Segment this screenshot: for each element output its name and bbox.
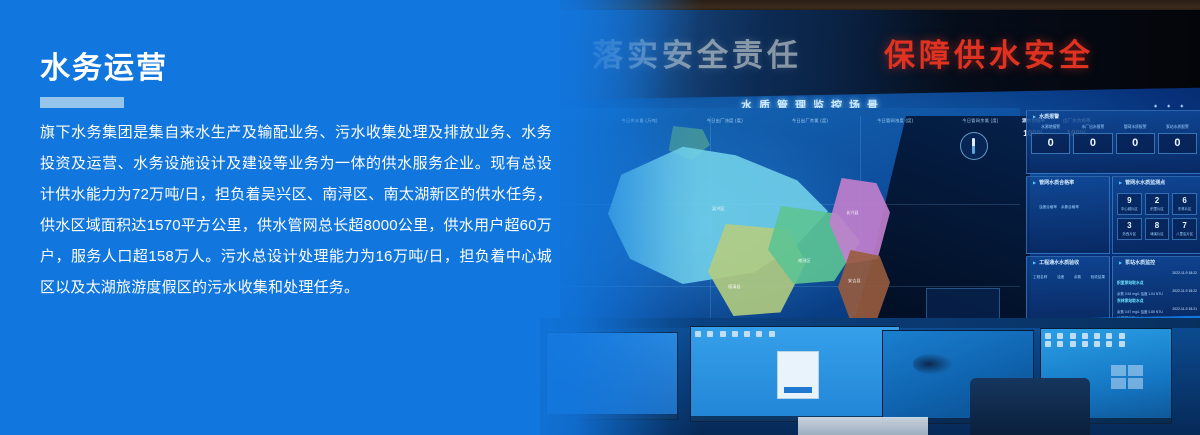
card-header: 水质报警 [1033, 113, 1059, 120]
map-district-label: 南浔区 [798, 258, 811, 264]
alarm-label: 泵站水质报警 [1158, 125, 1197, 130]
map-district-label: 长兴县 [846, 210, 859, 216]
page-title: 水务运营 [40, 54, 168, 84]
monitor-point-grid: 9 中心城片区 2 织里片区 6 东林片区 [1117, 193, 1197, 240]
log-station-name: 东林泵站取水点 [1117, 299, 1144, 303]
point-label: 妙西片区 [1118, 231, 1141, 236]
keyboard [798, 417, 928, 435]
card-monitor-points: 管网水水质监测点 9 中心城片区 2 织里片区 6 [1112, 176, 1200, 254]
kpi-item: 今日出厂浊度 (度) [685, 118, 764, 131]
water-operations-banner: 落实安全责任 保障供水安全 水质管理监控场景 [0, 0, 1200, 435]
monitor-point[interactable]: 2 织里片区 [1145, 193, 1170, 215]
kpi-item: 今日管网浊度 (度) [856, 118, 935, 131]
alarm-label: 管网水质报警 [1116, 125, 1155, 130]
legend-entry: 浊度合格率 [1039, 205, 1057, 209]
desktop-icon[interactable] [1082, 333, 1088, 339]
card-water-quality-alarm: 水质报警 水源地报警 0 水厂出水报警 0 管网水质报警 [1026, 110, 1200, 174]
desktop-icon[interactable] [695, 331, 701, 337]
desktop-icon-grid [695, 331, 779, 337]
operator-desk-row [540, 318, 1200, 435]
card-header: 工程通水水质验收 [1033, 259, 1079, 266]
desktop-icon[interactable] [1094, 333, 1100, 339]
title-underline-rule [40, 97, 124, 108]
alarm-label: 水源地报警 [1031, 125, 1070, 130]
map-district-label: 德清县 [728, 284, 741, 290]
desktop-icon[interactable] [1070, 333, 1076, 339]
desktop-icon[interactable] [1057, 333, 1063, 339]
point-value: 9 [1118, 196, 1141, 205]
point-label: 东林片区 [1173, 206, 1196, 211]
chart-icon: ◉ [1180, 104, 1183, 108]
column-header: 余氯 [1074, 275, 1081, 280]
alarm-value: 0 [1073, 133, 1112, 154]
dashboard-side-panels: ◉ ◉ ◉ 水质报警 水源地报警 0 水厂出水报警 [1026, 106, 1200, 328]
kpi-label: 今日管网浊度 (度) [856, 118, 935, 124]
desktop-icon[interactable] [1082, 341, 1088, 347]
desktop-icon[interactable] [720, 331, 726, 337]
login-dialog[interactable] [777, 351, 819, 399]
kpi-label: 今日出厂浊度 (度) [685, 118, 764, 124]
kpi-label: 今日供水量 (万吨) [600, 118, 679, 124]
point-label: 埭溪片区 [1146, 231, 1169, 236]
alarm-item: 水源地报警 0 [1031, 125, 1070, 154]
point-value: 8 [1146, 221, 1169, 230]
log-timestamp: 2022-11-9 18:22 [1172, 289, 1197, 293]
windows-logo-icon [1111, 365, 1145, 391]
legend-entry: 余氯合格率 [1061, 205, 1079, 209]
log-timestamp: 2022-11-9 18:21 [1172, 307, 1197, 311]
desktop-icon[interactable] [1045, 341, 1051, 347]
kpi-label: 今日出厂余氯 (度) [770, 118, 849, 124]
log-station-name: 织里泵站取水点 [1117, 281, 1144, 285]
video-wall-dashboard: 水质管理监控场景 吴兴区 南浔区 德清县 [560, 88, 1200, 328]
acceptance-columns: 工程名称 浊度 余氯 验收结果 [1033, 275, 1105, 280]
desktop-icon[interactable] [1045, 333, 1051, 339]
wallpaper-diver [913, 353, 953, 375]
gauge-icon: ◉ [1154, 104, 1157, 108]
card-header: 管网水水质监测点 [1119, 179, 1165, 186]
column-header: 工程名称 [1033, 275, 1047, 280]
monitor-point[interactable]: 9 中心城片区 [1117, 193, 1142, 215]
compass-icon [960, 132, 988, 160]
dashboard-top-icons: ◉ ◉ ◉ [1154, 104, 1183, 108]
alarm-item: 管网水质报警 0 [1116, 125, 1155, 154]
wall-slogan-left: 落实安全责任 [592, 30, 802, 75]
alarm-item: 泵站水质报警 0 [1158, 125, 1197, 154]
desktop-icon[interactable] [1057, 341, 1063, 347]
point-label: 八里店片区 [1173, 231, 1196, 236]
card-header: 管网水质合格率 [1033, 179, 1074, 186]
chart-legend: 浊度合格率 余氯合格率 [1039, 205, 1079, 210]
alarm-item: 水厂出水报警 0 [1073, 125, 1112, 154]
wall-slogan-right: 保障供水安全 [884, 30, 1094, 75]
body-paragraph: 旗下水务集团是集自来水生产及输配业务、污水收集处理及排放业务、水务投资及运营、水… [40, 117, 552, 303]
monitor-screen [690, 326, 900, 422]
alarm-value: 0 [1116, 133, 1155, 154]
alarm-value: 0 [1031, 133, 1070, 154]
column-header: 浊度 [1057, 275, 1064, 280]
desktop-icon[interactable] [1119, 341, 1125, 347]
desktop-icon[interactable] [769, 331, 775, 337]
point-value: 6 [1173, 196, 1196, 205]
desktop-icon-grid [1045, 333, 1129, 347]
kpi-strip: 今日供水量 (万吨) 今日出厂浊度 (度) 今日出厂余氯 (度) 今日管网浊度 … [600, 118, 1020, 131]
alarm-label: 水厂出水报警 [1073, 125, 1112, 130]
dialog-primary-button[interactable] [784, 387, 812, 393]
alarm-value: 0 [1158, 133, 1197, 154]
point-value: 3 [1118, 221, 1141, 230]
desktop-icon[interactable] [707, 331, 713, 337]
kpi-label: 今日管网余氯 (度) [941, 118, 1020, 124]
kpi-item: 今日管网余氯 (度) [941, 118, 1020, 131]
desktop-icon[interactable] [1106, 333, 1112, 339]
text-column: 水务运营 旗下水务集团是集自来水生产及输配业务、污水收集处理及排放业务、水务投资… [0, 0, 600, 435]
card-header: 泵站水质监控 [1119, 259, 1155, 266]
point-label: 织里片区 [1146, 206, 1169, 211]
map-district-label: 吴兴区 [712, 206, 725, 212]
kpi-item: 今日供水量 (万吨) [600, 118, 679, 131]
district-map: 吴兴区 南浔区 德清县 长兴县 安吉县 [560, 108, 1020, 328]
desktop-icon[interactable] [1070, 341, 1076, 347]
desktop-icon[interactable] [756, 331, 762, 337]
monitor-point[interactable]: 3 妙西片区 [1117, 218, 1142, 240]
desktop-icon[interactable] [1106, 341, 1112, 347]
log-timestamp: 2022-11-9 18:22 [1172, 271, 1197, 275]
point-value: 2 [1146, 196, 1169, 205]
alarm-row: 水源地报警 0 水厂出水报警 0 管网水质报警 0 [1031, 125, 1197, 154]
desktop-icon[interactable] [1094, 341, 1100, 347]
monitor-point[interactable]: 8 埭溪片区 [1145, 218, 1170, 240]
card-qualified-rate: 管网水质合格率 浊度合格率 余氯合格率 [1026, 176, 1110, 254]
desktop-icon[interactable] [744, 331, 750, 337]
monitor-point[interactable]: 7 八里店片区 [1172, 218, 1197, 240]
map-district-label: 安吉县 [848, 278, 861, 284]
point-value: 7 [1173, 221, 1196, 230]
monitor-point[interactable]: 6 东林片区 [1172, 193, 1197, 215]
droplet-icon: ◉ [1167, 104, 1170, 108]
column-header: 验收结果 [1091, 275, 1105, 280]
desktop-icon[interactable] [732, 331, 738, 337]
kpi-item: 今日出厂余氯 (度) [770, 118, 849, 131]
desktop-icon[interactable] [1119, 333, 1125, 339]
operator-chair [970, 378, 1090, 435]
point-label: 中心城片区 [1118, 206, 1141, 211]
